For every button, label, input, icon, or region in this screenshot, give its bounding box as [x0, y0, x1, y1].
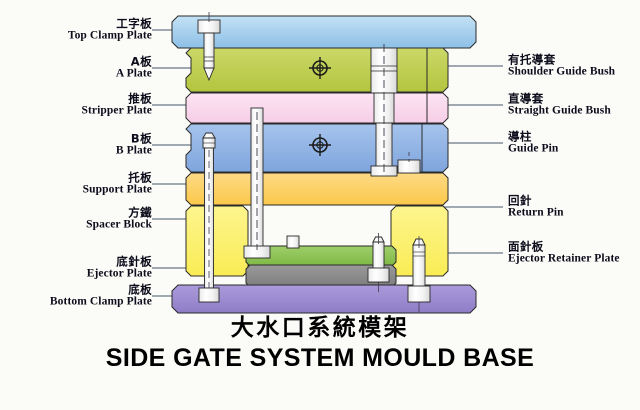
label-cn: 工字板	[68, 18, 152, 30]
label-en: Support Plate	[83, 184, 152, 196]
label-en: A Plate	[116, 68, 152, 80]
label-ejector-plate: 底針板 Ejector Plate	[87, 256, 152, 281]
label-cn: 直導套	[508, 93, 611, 105]
label-en: Ejector Retainer Plate	[508, 253, 620, 265]
plate-support	[186, 173, 448, 205]
label-cn: 底針板	[87, 256, 152, 268]
label-support-plate: 托板 Support Plate	[83, 172, 152, 197]
label-ejector-retainer-plate: 面針板 Ejector Retainer Plate	[508, 241, 620, 266]
label-straight-guide-bush: 直導套 Straight Guide Bush	[508, 93, 611, 118]
label-en: Guide Pin	[508, 143, 558, 155]
label-cn: 方鐵	[86, 207, 152, 219]
label-en: Top Clamp Plate	[68, 30, 152, 42]
label-cn: 回針	[508, 195, 564, 207]
label-guide-pin: 導柱 Guide Pin	[508, 131, 558, 156]
label-stripper-plate: 推板 Stripper Plate	[82, 93, 153, 118]
label-en: B Plate	[116, 145, 152, 157]
label-return-pin: 回針 Return Pin	[508, 195, 564, 220]
label-en: Bottom Clamp Plate	[50, 296, 152, 308]
label-en: Ejector Plate	[87, 268, 152, 280]
label-cn: 底板	[50, 284, 152, 296]
label-top-clamp-plate: 工字板 Top Clamp Plate	[68, 18, 152, 43]
label-shoulder-guide-bush: 有托導套 Shoulder Guide Bush	[508, 54, 615, 79]
spacer-block-left	[186, 206, 248, 276]
label-cn: 托板	[83, 172, 152, 184]
plate-b-right-wing	[422, 124, 448, 172]
label-en: Straight Guide Bush	[508, 105, 611, 117]
title-english: SIDE GATE SYSTEM MOULD BASE	[0, 344, 640, 373]
label-a-plate: A板 A Plate	[116, 56, 152, 81]
label-en: Stripper Plate	[82, 105, 153, 117]
label-cn: B板	[116, 133, 152, 145]
label-en: Shoulder Guide Bush	[508, 66, 615, 78]
label-bottom-clamp-plate: 底板 Bottom Clamp Plate	[50, 284, 152, 309]
label-cn: 面針板	[508, 241, 620, 253]
label-b-plate: B板 B Plate	[116, 133, 152, 158]
page-title: 大水口系統模架 SIDE GATE SYSTEM MOULD BASE	[0, 308, 640, 373]
label-cn: 導柱	[508, 131, 558, 143]
label-en: Spacer Block	[86, 219, 152, 231]
label-en: Return Pin	[508, 207, 564, 219]
plate-a-right-wing	[427, 48, 448, 92]
label-cn: A板	[116, 56, 152, 68]
label-spacer-block: 方鐵 Spacer Block	[86, 207, 152, 232]
label-cn: 推板	[82, 93, 153, 105]
plate-stripper-right-wing	[427, 93, 448, 123]
diagram-canvas: 工字板 Top Clamp Plate A板 A Plate 推板 Stripp…	[0, 0, 640, 410]
label-cn: 有托導套	[508, 54, 615, 66]
title-chinese: 大水口系統模架	[0, 308, 640, 342]
support-screw-left	[287, 236, 299, 248]
